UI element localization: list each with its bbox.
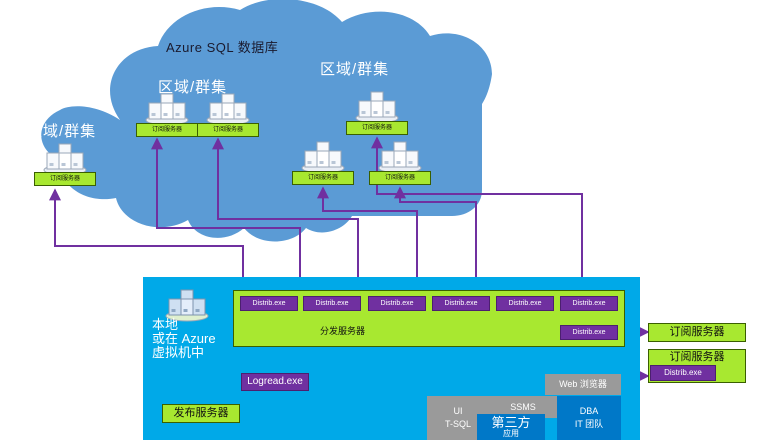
distributor-label: 分发服务器 <box>320 324 365 337</box>
persona-line: 第三方 <box>491 416 530 429</box>
subscriber-chip-4[interactable]: 订阅服务器 <box>346 121 408 135</box>
publisher-box[interactable]: 发布服务器 <box>162 404 240 423</box>
distrib-agent-label: Distrib.exe <box>572 329 605 336</box>
external-subscriber-label: 订阅服务器 <box>670 352 725 363</box>
persona-third-party-app[interactable]: 第三方 应用 <box>477 414 545 440</box>
distrib-agent-label: Distrib.exe <box>664 369 702 377</box>
distrib-agent-label: Distrib.exe <box>444 300 477 307</box>
subscriber-chip-label: 订阅服务器 <box>385 175 415 181</box>
persona-line: IT 团队 <box>575 418 603 431</box>
server-stack-icon <box>353 90 401 124</box>
distrib-agent-label: Distrib.exe <box>252 300 285 307</box>
region-label-3: 区域/群集 <box>320 58 389 79</box>
distrib-agent-label: Distrib.exe <box>380 300 413 307</box>
logread-agent-label: Logread.exe <box>247 377 303 387</box>
subscriber-chip-3[interactable]: 订阅服务器 <box>197 123 259 137</box>
persona-line: UI <box>454 405 463 418</box>
onprem-location-line-2: 或在 Azure <box>152 332 238 346</box>
onprem-location-label: 本地 或在 Azure 虚拟机中 <box>152 318 238 360</box>
external-subscriber-1[interactable]: 订阅服务器 <box>648 323 746 342</box>
persona-web-browser[interactable]: Web 浏览器 <box>545 374 621 395</box>
persona-line: 应用 <box>503 429 519 438</box>
subscriber-chip-label: 订阅服务器 <box>213 127 243 133</box>
persona-dba-it-team[interactable]: DBA IT 团队 <box>557 396 621 440</box>
subscriber-chip-label: 订阅服务器 <box>362 125 392 131</box>
persona-line: Web 浏览器 <box>559 378 607 391</box>
onprem-location-line-1: 本地 <box>152 318 238 332</box>
distrib-agent-label: Distrib.exe <box>572 300 605 307</box>
distrib-agent-label: Distrib.exe <box>508 300 541 307</box>
server-stack-icon <box>204 92 252 126</box>
distrib-agent-6[interactable]: Distrib.exe <box>560 296 618 311</box>
external-subscriber-label: 订阅服务器 <box>670 327 725 338</box>
server-stack-icon <box>299 140 347 174</box>
persona-line: SSMS <box>510 401 536 414</box>
external-subscriber-2-agent[interactable]: Distrib.exe <box>650 365 716 381</box>
subscriber-chip-1[interactable]: 订阅服务器 <box>34 172 96 186</box>
server-stack-icon <box>376 140 424 174</box>
distrib-agent-5[interactable]: Distrib.exe <box>496 296 554 311</box>
subscriber-chip-label: 订阅服务器 <box>50 176 80 182</box>
server-stack-icon <box>143 92 191 126</box>
cloud-title: Azure SQL 数据库 <box>166 37 278 56</box>
subscriber-chip-label: 订阅服务器 <box>152 127 182 133</box>
distrib-agent-4[interactable]: Distrib.exe <box>432 296 490 311</box>
publisher-label: 发布服务器 <box>174 408 229 419</box>
persona-line: T-SQL <box>445 418 471 431</box>
onprem-location-line-3: 虚拟机中 <box>152 346 238 360</box>
region-label-1: 区域/群集 <box>27 120 96 141</box>
distrib-agent-1[interactable]: Distrib.exe <box>240 296 298 311</box>
server-stack-icon <box>41 142 89 176</box>
subscriber-chip-label: 订阅服务器 <box>308 175 338 181</box>
persona-line: DBA <box>580 405 599 418</box>
distrib-agent-2[interactable]: Distrib.exe <box>303 296 361 311</box>
logread-agent[interactable]: Logread.exe <box>241 373 309 391</box>
subscriber-chip-5[interactable]: 订阅服务器 <box>292 171 354 185</box>
azure-cloud-shape <box>0 0 780 270</box>
diagram-canvas: Azure SQL 数据库 区域/群集 区域/群集 区域/群集 订阅服务器 <box>0 0 780 440</box>
distrib-agent-3[interactable]: Distrib.exe <box>368 296 426 311</box>
distrib-agent-7[interactable]: Distrib.exe <box>560 325 618 340</box>
distrib-agent-label: Distrib.exe <box>315 300 348 307</box>
subscriber-chip-6[interactable]: 订阅服务器 <box>369 171 431 185</box>
subscriber-chip-2[interactable]: 订阅服务器 <box>136 123 198 137</box>
